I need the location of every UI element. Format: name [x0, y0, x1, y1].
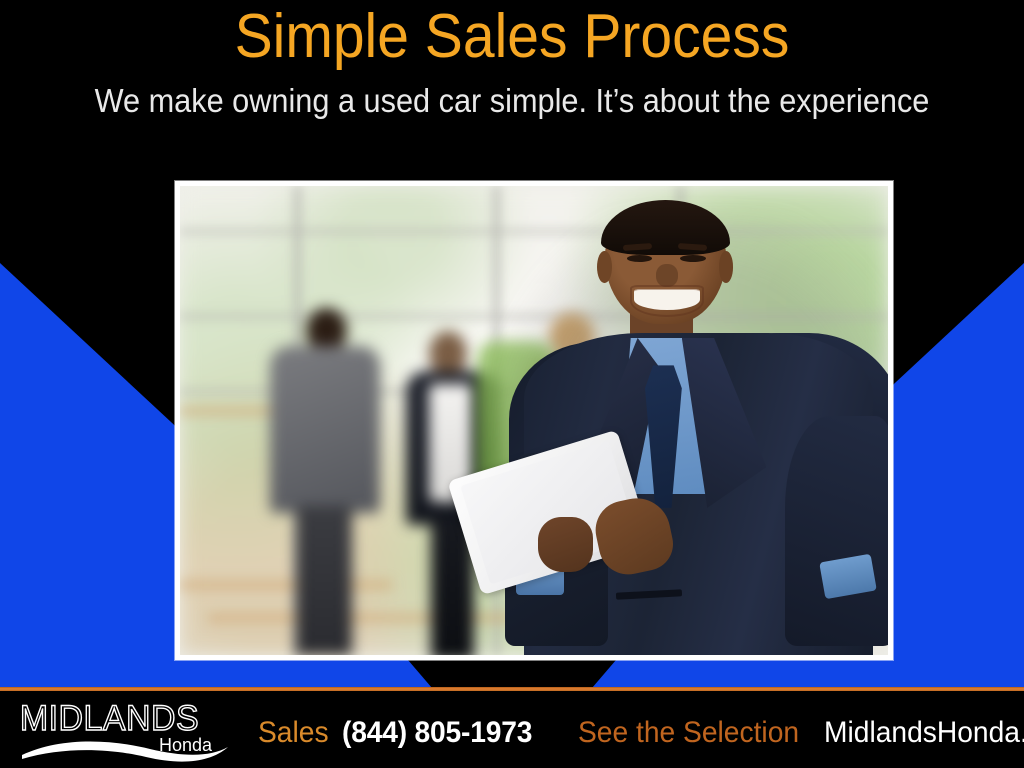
logo-wordmark-midlands: MIDLANDS — [20, 700, 199, 739]
blue-bottom-band — [0, 660, 1024, 688]
ear-right — [719, 251, 734, 283]
midlands-honda-logo[interactable]: MIDLANDS Honda — [14, 697, 246, 763]
eye-right — [680, 255, 706, 262]
arm-right — [785, 416, 888, 646]
logo-submark-honda: Honda — [159, 735, 213, 755]
page-subtitle: We make owning a used car simple. It’s a… — [36, 82, 988, 120]
page-title: Simple Sales Process — [41, 2, 983, 72]
ear-left — [597, 251, 612, 283]
footer-contact-row: Sales (844) 805-1973 See the Selection M… — [258, 713, 1016, 753]
advertisement-canvas: Simple Sales Process We make owning a us… — [0, 0, 1024, 768]
sales-phone-number[interactable]: (844) 805-1973 — [342, 716, 532, 750]
footer-bar: MIDLANDS Honda Sales (844) 805-1973 See … — [0, 691, 1024, 768]
see-the-selection-label: See the Selection — [578, 716, 799, 750]
hero-photo — [180, 186, 888, 655]
hand-left — [538, 517, 593, 572]
headline-block: Simple Sales Process We make owning a us… — [0, 0, 1024, 170]
background-person-grey-suit — [265, 308, 385, 655]
eye-left — [627, 255, 653, 262]
sales-label: Sales — [258, 716, 329, 750]
website-url[interactable]: MidlandsHonda.com — [824, 716, 1024, 750]
smile-teeth — [634, 289, 700, 310]
foreground-businessman — [520, 195, 888, 655]
hero-photo-frame — [175, 181, 893, 660]
nose — [656, 264, 678, 287]
hair — [601, 200, 730, 255]
